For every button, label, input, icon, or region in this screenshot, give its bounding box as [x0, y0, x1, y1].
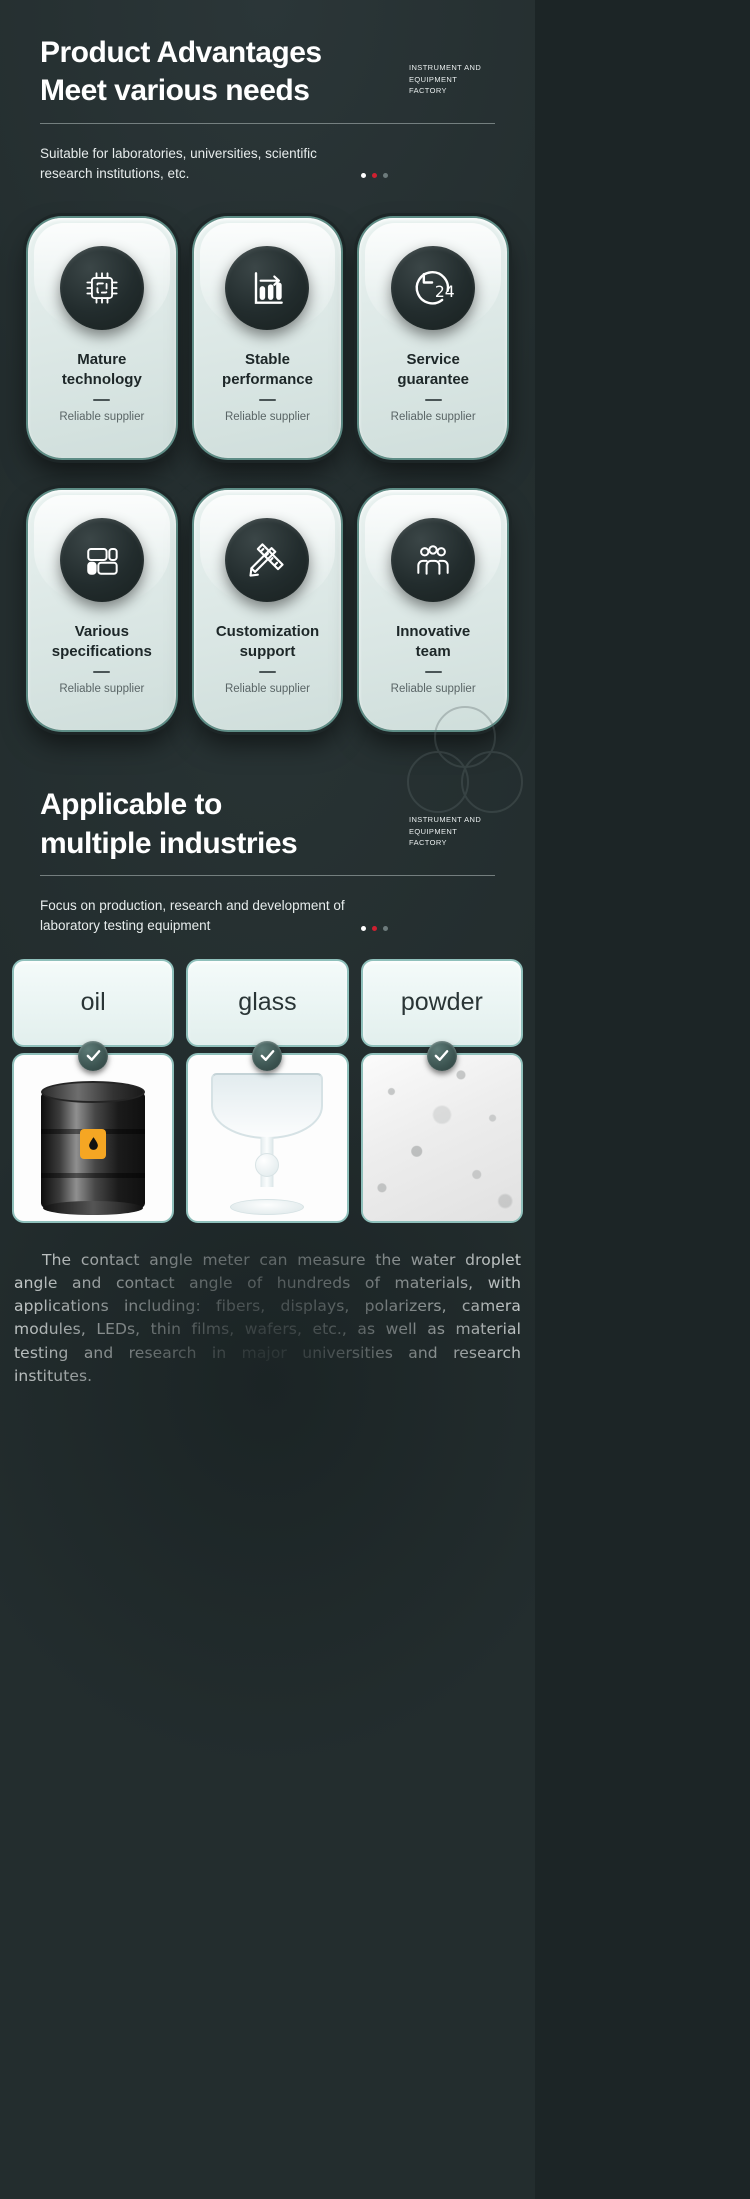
check-icon: [252, 1041, 282, 1071]
feature-card-title: Innovative team: [388, 622, 478, 662]
title-divider: [425, 399, 442, 402]
section-subtitle: Suitable for laboratories, universities,…: [40, 144, 370, 185]
brand-mark-secondary: INSTRUMENT AND EQUIPMENT FACTORY: [409, 814, 497, 849]
layout-grid-icon: [60, 518, 144, 602]
feature-card-various-specifications[interactable]: Various specifications Reliable supplier: [28, 490, 176, 730]
industry-card-oil[interactable]: oil: [12, 959, 174, 1223]
feature-card-subtitle: Reliable supplier: [59, 683, 144, 695]
title-divider: [259, 671, 276, 674]
oil-drop-icon: [80, 1129, 106, 1159]
brand-line-2: EQUIPMENT: [409, 826, 497, 838]
industry-label: glass: [186, 959, 348, 1047]
section2-divider: [40, 875, 495, 876]
carousel-dot-1[interactable]: [361, 926, 366, 931]
subtitle-text: Suitable for laboratories, universities,…: [40, 146, 317, 181]
feature-card-subtitle: Reliable supplier: [391, 411, 476, 423]
feature-card-service-guarantee[interactable]: 24 Service guarantee Reliable supplier: [359, 218, 507, 458]
feature-title-line-1: Customization: [216, 622, 319, 642]
check-icon: [427, 1041, 457, 1071]
footer-description: The contact angle meter can measure the …: [14, 1249, 521, 1389]
feature-cards-row-2: Various specifications Reliable supplier…: [0, 490, 535, 730]
oil-drum-image: [12, 1053, 174, 1223]
page-backdrop: [535, 0, 750, 2199]
feature-title-line-1: Innovative: [396, 622, 470, 642]
svg-text:24: 24: [435, 283, 455, 301]
feature-title-line-2: performance: [222, 370, 313, 390]
carousel-dot-1[interactable]: [361, 173, 366, 178]
industry-card-powder[interactable]: powder: [361, 959, 523, 1223]
title-divider: [425, 671, 442, 674]
industry-cards: oil glass: [0, 959, 535, 1223]
feature-card-title: Service guarantee: [389, 350, 477, 390]
feature-title-line-2: team: [396, 642, 470, 662]
header-divider: [40, 123, 495, 124]
brand-line-3: FACTORY: [409, 85, 497, 97]
check-icon: [78, 1041, 108, 1071]
section-product-advantages-header: Product Advantages Meet various needs IN…: [0, 0, 535, 111]
feature-card-subtitle: Reliable supplier: [59, 411, 144, 423]
industry-label: powder: [361, 959, 523, 1047]
glass-goblet-image: [186, 1053, 348, 1223]
section2-subtitle-text: Focus on production, research and develo…: [40, 898, 345, 933]
carousel-dot-3[interactable]: [383, 173, 388, 178]
feature-card-subtitle: Reliable supplier: [225, 683, 310, 695]
brand-line-1: INSTRUMENT AND: [409, 814, 497, 826]
brand-line-1: INSTRUMENT AND: [409, 62, 497, 74]
feature-title-line-1: Various: [52, 622, 152, 642]
team-icon: [391, 518, 475, 602]
title-divider: [93, 399, 110, 402]
clock-24-icon: 24: [391, 246, 475, 330]
feature-cards-row-1: Mature technology Reliable supplier Stab…: [0, 218, 535, 458]
feature-card-mature-technology[interactable]: Mature technology Reliable supplier: [28, 218, 176, 458]
bar-chart-icon: [225, 246, 309, 330]
feature-card-title: Customization support: [208, 622, 327, 662]
white-powder-image: [361, 1053, 523, 1223]
overlapping-circles-decoration: [407, 706, 523, 822]
feature-card-title: Various specifications: [44, 622, 160, 662]
feature-card-subtitle: Reliable supplier: [225, 411, 310, 423]
section2-subtitle: Focus on production, research and develo…: [40, 896, 370, 937]
brand-line-2: EQUIPMENT: [409, 74, 497, 86]
title-divider: [259, 399, 276, 402]
feature-card-innovative-team[interactable]: Innovative team Reliable supplier: [359, 490, 507, 730]
feature-title-line-2: specifications: [52, 642, 152, 662]
carousel-dot-2-active[interactable]: [372, 173, 377, 178]
feature-card-customization-support[interactable]: Customization support Reliable supplier: [194, 490, 342, 730]
feature-title-line-2: support: [216, 642, 319, 662]
feature-title-line-2: technology: [62, 370, 142, 390]
chip-icon: [60, 246, 144, 330]
feature-title-line-2: guarantee: [397, 370, 469, 390]
carousel-dot-3[interactable]: [383, 926, 388, 931]
carousel-dots-secondary[interactable]: [361, 926, 388, 931]
brand-mark: INSTRUMENT AND EQUIPMENT FACTORY: [409, 62, 497, 97]
pencil-ruler-icon: [225, 518, 309, 602]
feature-card-stable-performance[interactable]: Stable performance Reliable supplier: [194, 218, 342, 458]
feature-title-line-1: Service: [397, 350, 469, 370]
carousel-dot-2-active[interactable]: [372, 926, 377, 931]
brand-line-3: FACTORY: [409, 837, 497, 849]
feature-card-title: Mature technology: [54, 350, 150, 390]
feature-title-line-1: Mature: [62, 350, 142, 370]
feature-card-title: Stable performance: [214, 350, 321, 390]
industry-card-glass[interactable]: glass: [186, 959, 348, 1223]
carousel-dots[interactable]: [361, 173, 388, 178]
feature-title-line-1: Stable: [222, 350, 313, 370]
marketing-page: Product Advantages Meet various needs IN…: [0, 0, 535, 2199]
feature-card-subtitle: Reliable supplier: [391, 683, 476, 695]
section-applicable-industries-header: Applicable to multiple industries INSTRU…: [0, 730, 535, 863]
title-divider: [93, 671, 110, 674]
industry-label: oil: [12, 959, 174, 1047]
